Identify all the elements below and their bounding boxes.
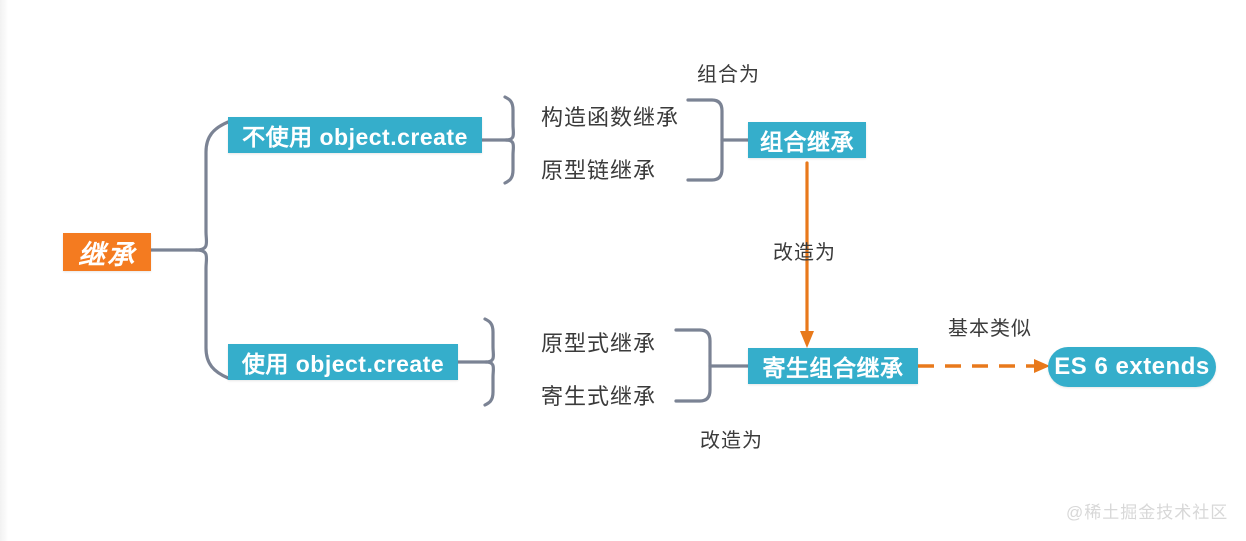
edge-label-combine-into-text: 组合为 xyxy=(697,64,760,86)
node-branch-use-object-create-label: 使用 object.create xyxy=(242,345,444,379)
wire-lower-group-bracket xyxy=(676,330,710,401)
edge-label-refactor-into-vertical-text: 改造为 xyxy=(773,242,836,264)
leaf-constructor-inheritance: 构造函数继承 xyxy=(541,100,679,132)
node-es6-extends-label: ES 6 extends xyxy=(1054,353,1209,381)
leaf-prototypal-inheritance-label: 原型式继承 xyxy=(541,331,656,356)
node-combined-inheritance[interactable]: 组合继承 xyxy=(748,122,866,158)
node-parasitic-combined-inheritance-label: 寄生组合继承 xyxy=(763,349,904,383)
wire-lower-brace-bottom xyxy=(485,362,493,405)
wire-root-brace-lower xyxy=(196,250,228,378)
arrowhead-down xyxy=(800,331,814,348)
connector-wires xyxy=(0,0,1246,541)
leaf-prototype-chain-inheritance-label: 原型链继承 xyxy=(541,158,656,183)
wire-root-brace-upper xyxy=(196,122,228,250)
watermark-text: @稀土掘金技术社区 xyxy=(1066,503,1228,522)
node-branch-no-object-create[interactable]: 不使用 object.create xyxy=(228,117,482,153)
node-combined-inheritance-label: 组合继承 xyxy=(760,123,854,157)
edge-label-combine-into: 组合为 xyxy=(697,58,760,87)
node-root-inheritance[interactable]: 继承 xyxy=(63,233,151,271)
wire-upper-brace-top xyxy=(505,97,513,140)
left-edge-strip xyxy=(0,0,8,541)
wire-lower-brace-top xyxy=(485,319,493,362)
node-parasitic-combined-inheritance[interactable]: 寄生组合继承 xyxy=(748,348,918,384)
node-branch-no-object-create-label: 不使用 object.create xyxy=(242,118,468,152)
leaf-parasitic-inheritance-label: 寄生式继承 xyxy=(541,384,656,409)
edge-label-refactor-into-bottom-text: 改造为 xyxy=(700,430,763,452)
wire-upper-brace-bottom xyxy=(505,140,513,183)
node-branch-use-object-create[interactable]: 使用 object.create xyxy=(228,344,458,380)
leaf-prototype-chain-inheritance: 原型链继承 xyxy=(541,153,656,185)
edge-label-basically-similar-text: 基本类似 xyxy=(948,318,1032,340)
edge-label-basically-similar: 基本类似 xyxy=(948,312,1032,341)
node-es6-extends[interactable]: ES 6 extends xyxy=(1048,347,1216,387)
leaf-prototypal-inheritance: 原型式继承 xyxy=(541,326,656,358)
leaf-parasitic-inheritance: 寄生式继承 xyxy=(541,379,656,411)
wire-upper-group-bracket xyxy=(688,100,722,180)
node-root-label: 继承 xyxy=(78,233,136,272)
mindmap-canvas: 继承 不使用 object.create 使用 object.create 组合… xyxy=(0,0,1246,541)
edge-label-refactor-into-bottom: 改造为 xyxy=(700,424,763,453)
leaf-constructor-inheritance-label: 构造函数继承 xyxy=(541,105,679,130)
edge-label-refactor-into-vertical: 改造为 xyxy=(773,236,836,265)
watermark: @稀土掘金技术社区 xyxy=(1066,498,1228,523)
